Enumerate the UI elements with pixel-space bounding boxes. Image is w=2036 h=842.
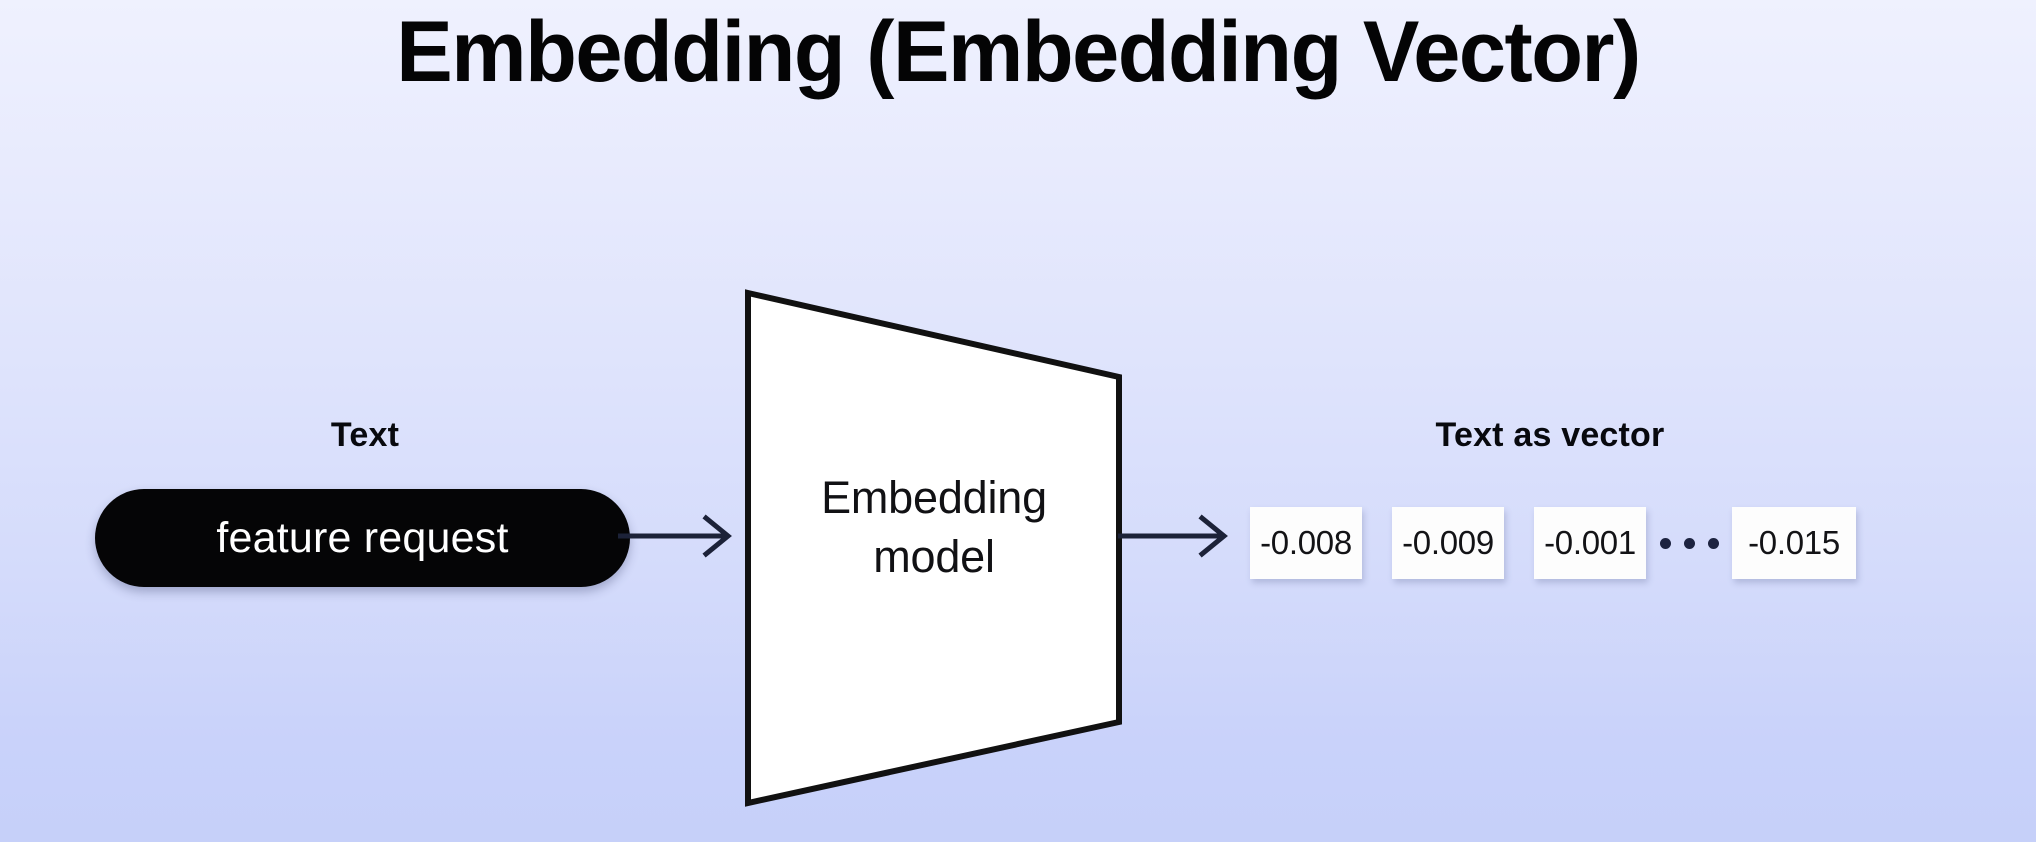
vector-cell: -0.009 — [1392, 507, 1504, 579]
page-title: Embedding (Embedding Vector) — [15, 4, 2020, 100]
embedding-model-label-line2: model — [748, 527, 1120, 586]
vector-cell: -0.001 — [1534, 507, 1646, 579]
ellipsis-dot — [1684, 538, 1695, 549]
vector-cell: -0.008 — [1250, 507, 1362, 579]
vector-cell: -0.015 — [1732, 507, 1856, 579]
output-vector-label: Text as vector — [1250, 415, 1850, 455]
ellipsis-dot — [1708, 538, 1719, 549]
vector-ellipsis-icon — [1646, 507, 1732, 579]
input-text-pill-label: feature request — [216, 514, 508, 562]
slide-canvas: Embedding (Embedding Vector) Text featur… — [0, 0, 2036, 842]
embedding-model-label-line1: Embedding — [748, 468, 1120, 527]
input-text-pill: feature request — [95, 489, 630, 587]
ellipsis-dot — [1660, 538, 1671, 549]
text-to-model-arrow — [618, 506, 738, 566]
embedding-model-label: Embedding model — [748, 468, 1120, 586]
model-to-vector-arrow — [1118, 506, 1234, 566]
input-text-label: Text — [85, 415, 645, 455]
vector-cells-row: -0.008 -0.009 -0.001 -0.015 — [1250, 503, 1895, 583]
